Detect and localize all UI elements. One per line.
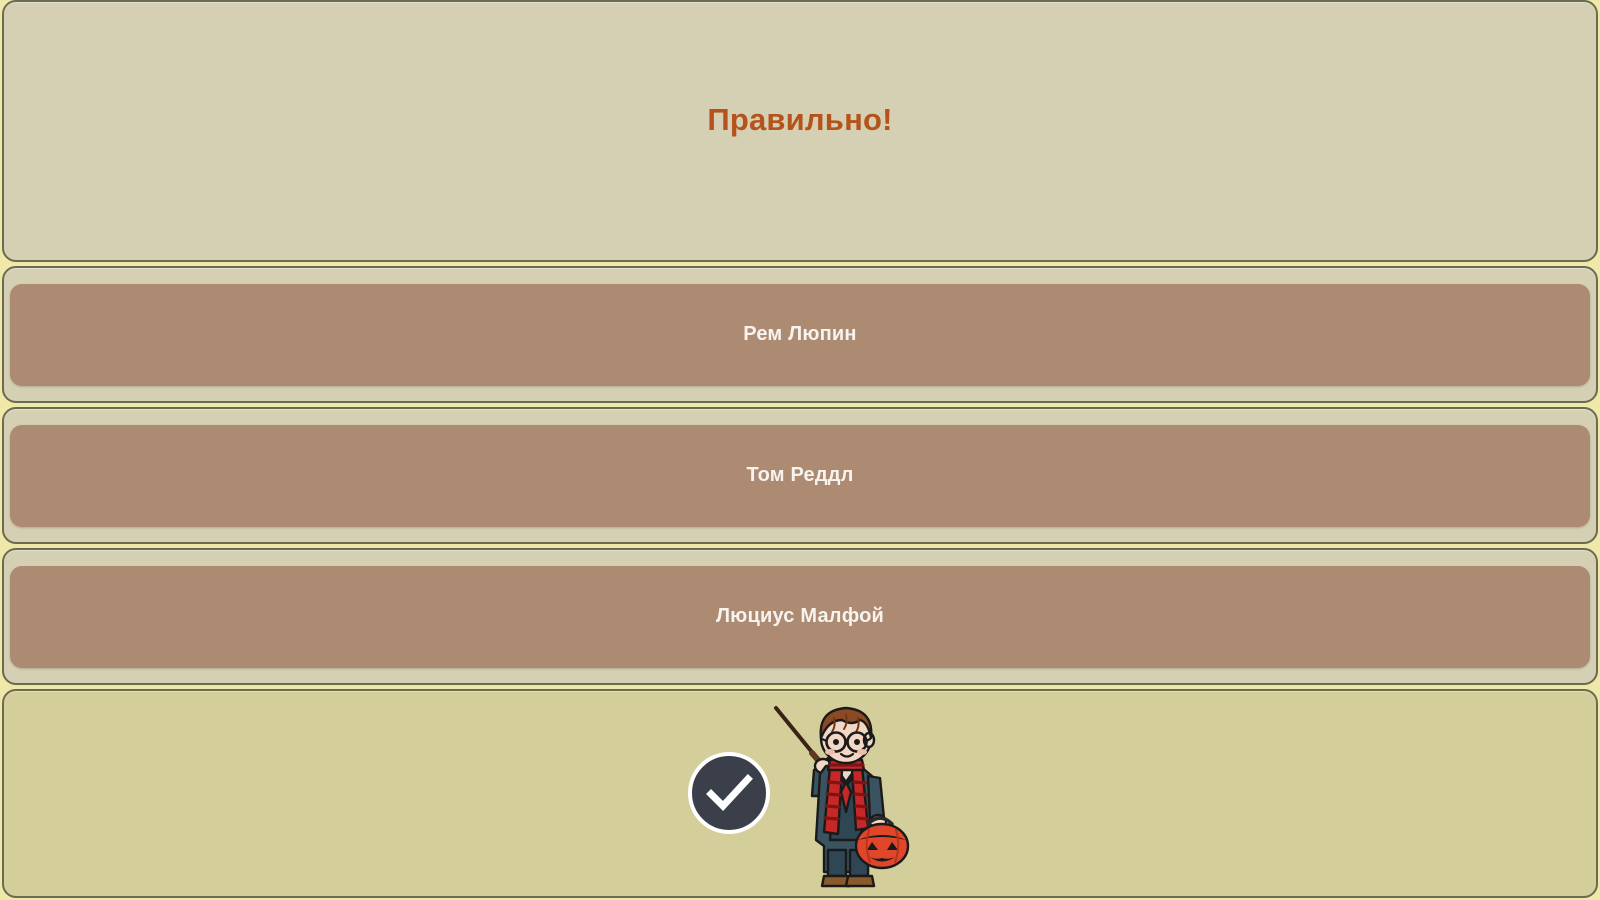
feedback-title: Правильно! xyxy=(707,102,892,138)
answer-option-panel-1: Рем Люпин xyxy=(2,266,1598,403)
wizard-boy-with-wand-and-pumpkin-illustration xyxy=(768,700,916,892)
feedback-banner-panel: Правильно! xyxy=(2,0,1598,262)
answer-option-panel-3: Люциус Малфой xyxy=(2,548,1598,685)
feedback-stage xyxy=(680,694,920,894)
check-circle-icon xyxy=(688,752,770,834)
answer-option-panel-2: Том Реддл xyxy=(2,407,1598,544)
answer-option-button-2[interactable]: Том Реддл xyxy=(10,425,1590,527)
answer-option-button-3[interactable]: Люциус Малфой xyxy=(10,566,1590,668)
answer-option-button-1[interactable]: Рем Люпин xyxy=(10,284,1590,386)
feedback-illustration-panel xyxy=(2,689,1598,898)
